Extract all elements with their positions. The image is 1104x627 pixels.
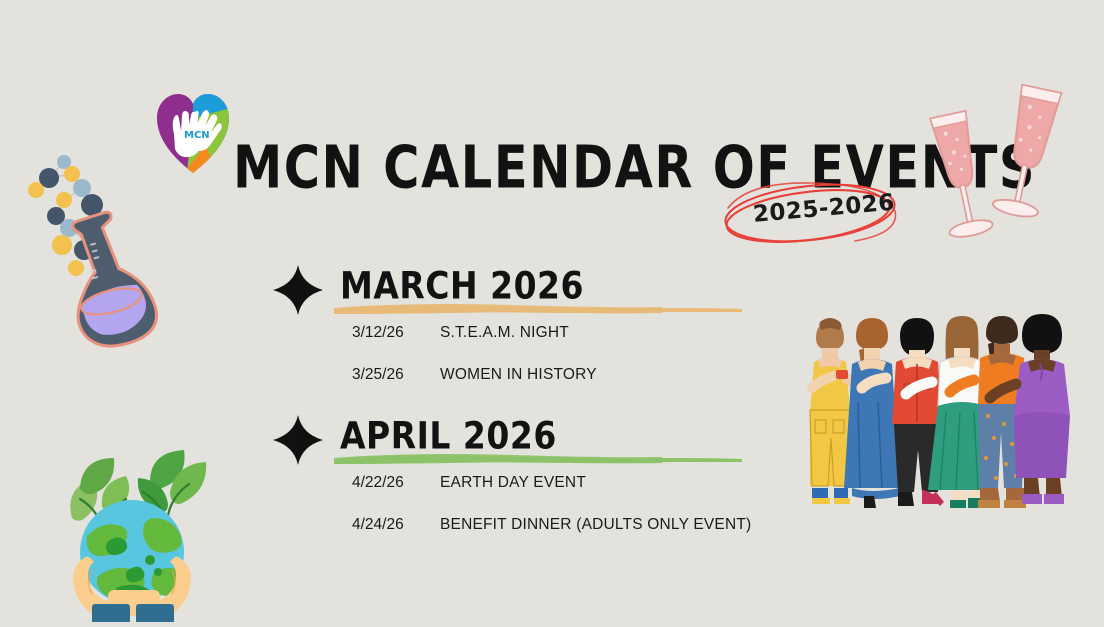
champagne-glass-left bbox=[925, 110, 994, 239]
sparkle-star-icon bbox=[272, 264, 324, 316]
event-date: 3/25/26 bbox=[352, 366, 440, 384]
event-list-march: 3/12/26 S.T.E.A.M. NIGHT 3/25/26 WOMEN I… bbox=[352, 324, 597, 408]
event-row: 4/24/26 BENEFIT DINNER (ADULTS ONLY EVEN… bbox=[352, 516, 751, 534]
poster-canvas: MCN MCN CALENDAR OF EVENTS 2025-2026 MAR… bbox=[0, 0, 1104, 622]
event-date: 3/12/26 bbox=[352, 324, 440, 342]
highlight-underline-march bbox=[332, 300, 744, 316]
year-badge: 2025-2026 bbox=[718, 178, 908, 254]
event-date: 4/22/26 bbox=[352, 474, 440, 492]
sparkle-star-icon bbox=[272, 414, 324, 466]
highlight-underline-april bbox=[332, 450, 744, 466]
event-list-april: 4/22/26 EARTH DAY EVENT 4/24/26 BENEFIT … bbox=[352, 474, 751, 558]
champagne-glasses-illustration bbox=[900, 62, 1100, 262]
six-women-illustration bbox=[790, 292, 1072, 524]
event-date: 4/24/26 bbox=[352, 516, 440, 534]
event-name: EARTH DAY EVENT bbox=[440, 474, 586, 492]
earth-day-illustration bbox=[32, 440, 232, 622]
event-name: S.T.E.A.M. NIGHT bbox=[440, 324, 569, 342]
champagne-glass-right bbox=[991, 84, 1063, 220]
logo-text: MCN bbox=[184, 130, 210, 141]
event-row: 4/22/26 EARTH DAY EVENT bbox=[352, 474, 751, 492]
event-name: BENEFIT DINNER (ADULTS ONLY EVENT) bbox=[440, 516, 751, 534]
science-flask-illustration bbox=[14, 150, 214, 365]
event-row: 3/12/26 S.T.E.A.M. NIGHT bbox=[352, 324, 597, 342]
event-name: WOMEN IN HISTORY bbox=[440, 366, 597, 384]
event-row: 3/25/26 WOMEN IN HISTORY bbox=[352, 366, 597, 384]
